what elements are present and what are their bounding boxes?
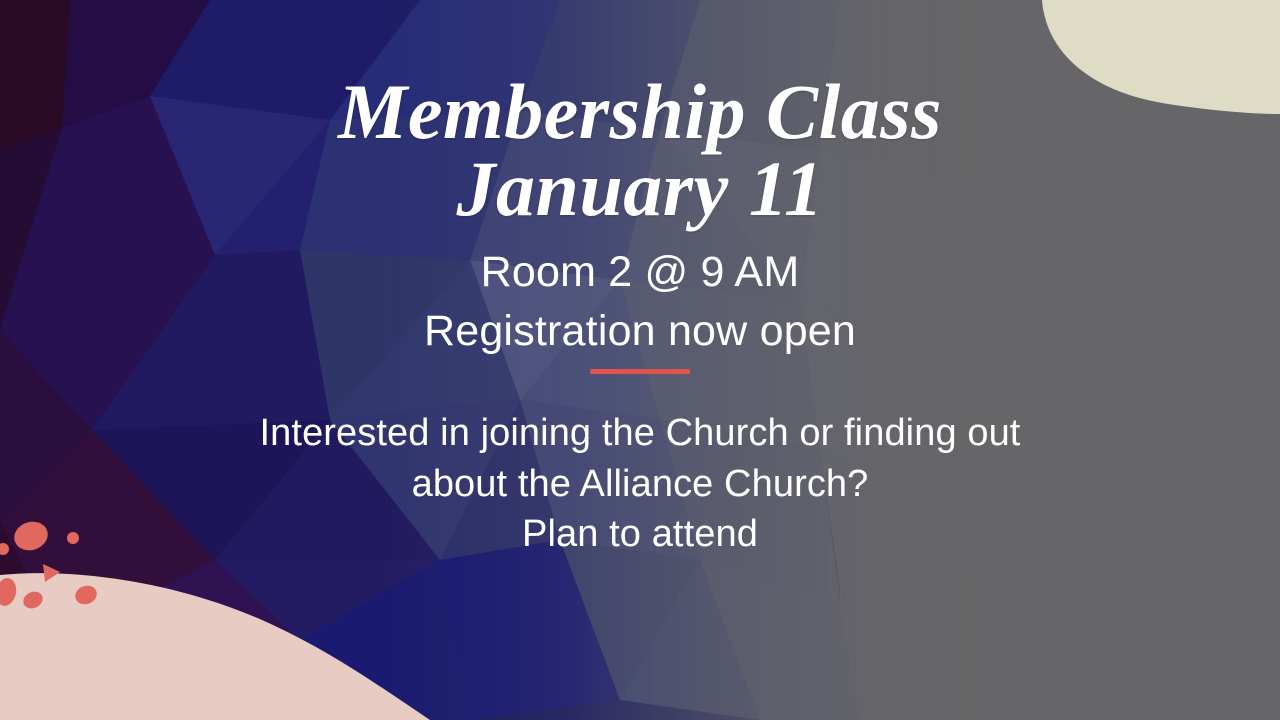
accent-divider-rule <box>590 369 690 374</box>
slide-body-copy: Interested in joining the Church or find… <box>0 408 1280 560</box>
body-line-2: about the Alliance Church? <box>0 459 1280 510</box>
body-line-1: Interested in joining the Church or find… <box>0 408 1280 459</box>
slide-content: Membership Class January 11 Room 2 @ 9 A… <box>0 0 1280 720</box>
slide-title: Membership Class January 11 <box>0 74 1280 227</box>
announcement-slide: Membership Class January 11 Room 2 @ 9 A… <box>0 0 1280 720</box>
body-line-3: Plan to attend <box>0 509 1280 560</box>
slide-subtitle: Room 2 @ 9 AM Registration now open <box>0 243 1280 362</box>
subtitle-line-2: Registration now open <box>0 302 1280 361</box>
title-line-1: Membership Class <box>0 74 1280 150</box>
subtitle-line-1: Room 2 @ 9 AM <box>0 243 1280 302</box>
title-line-2: January 11 <box>0 151 1280 227</box>
